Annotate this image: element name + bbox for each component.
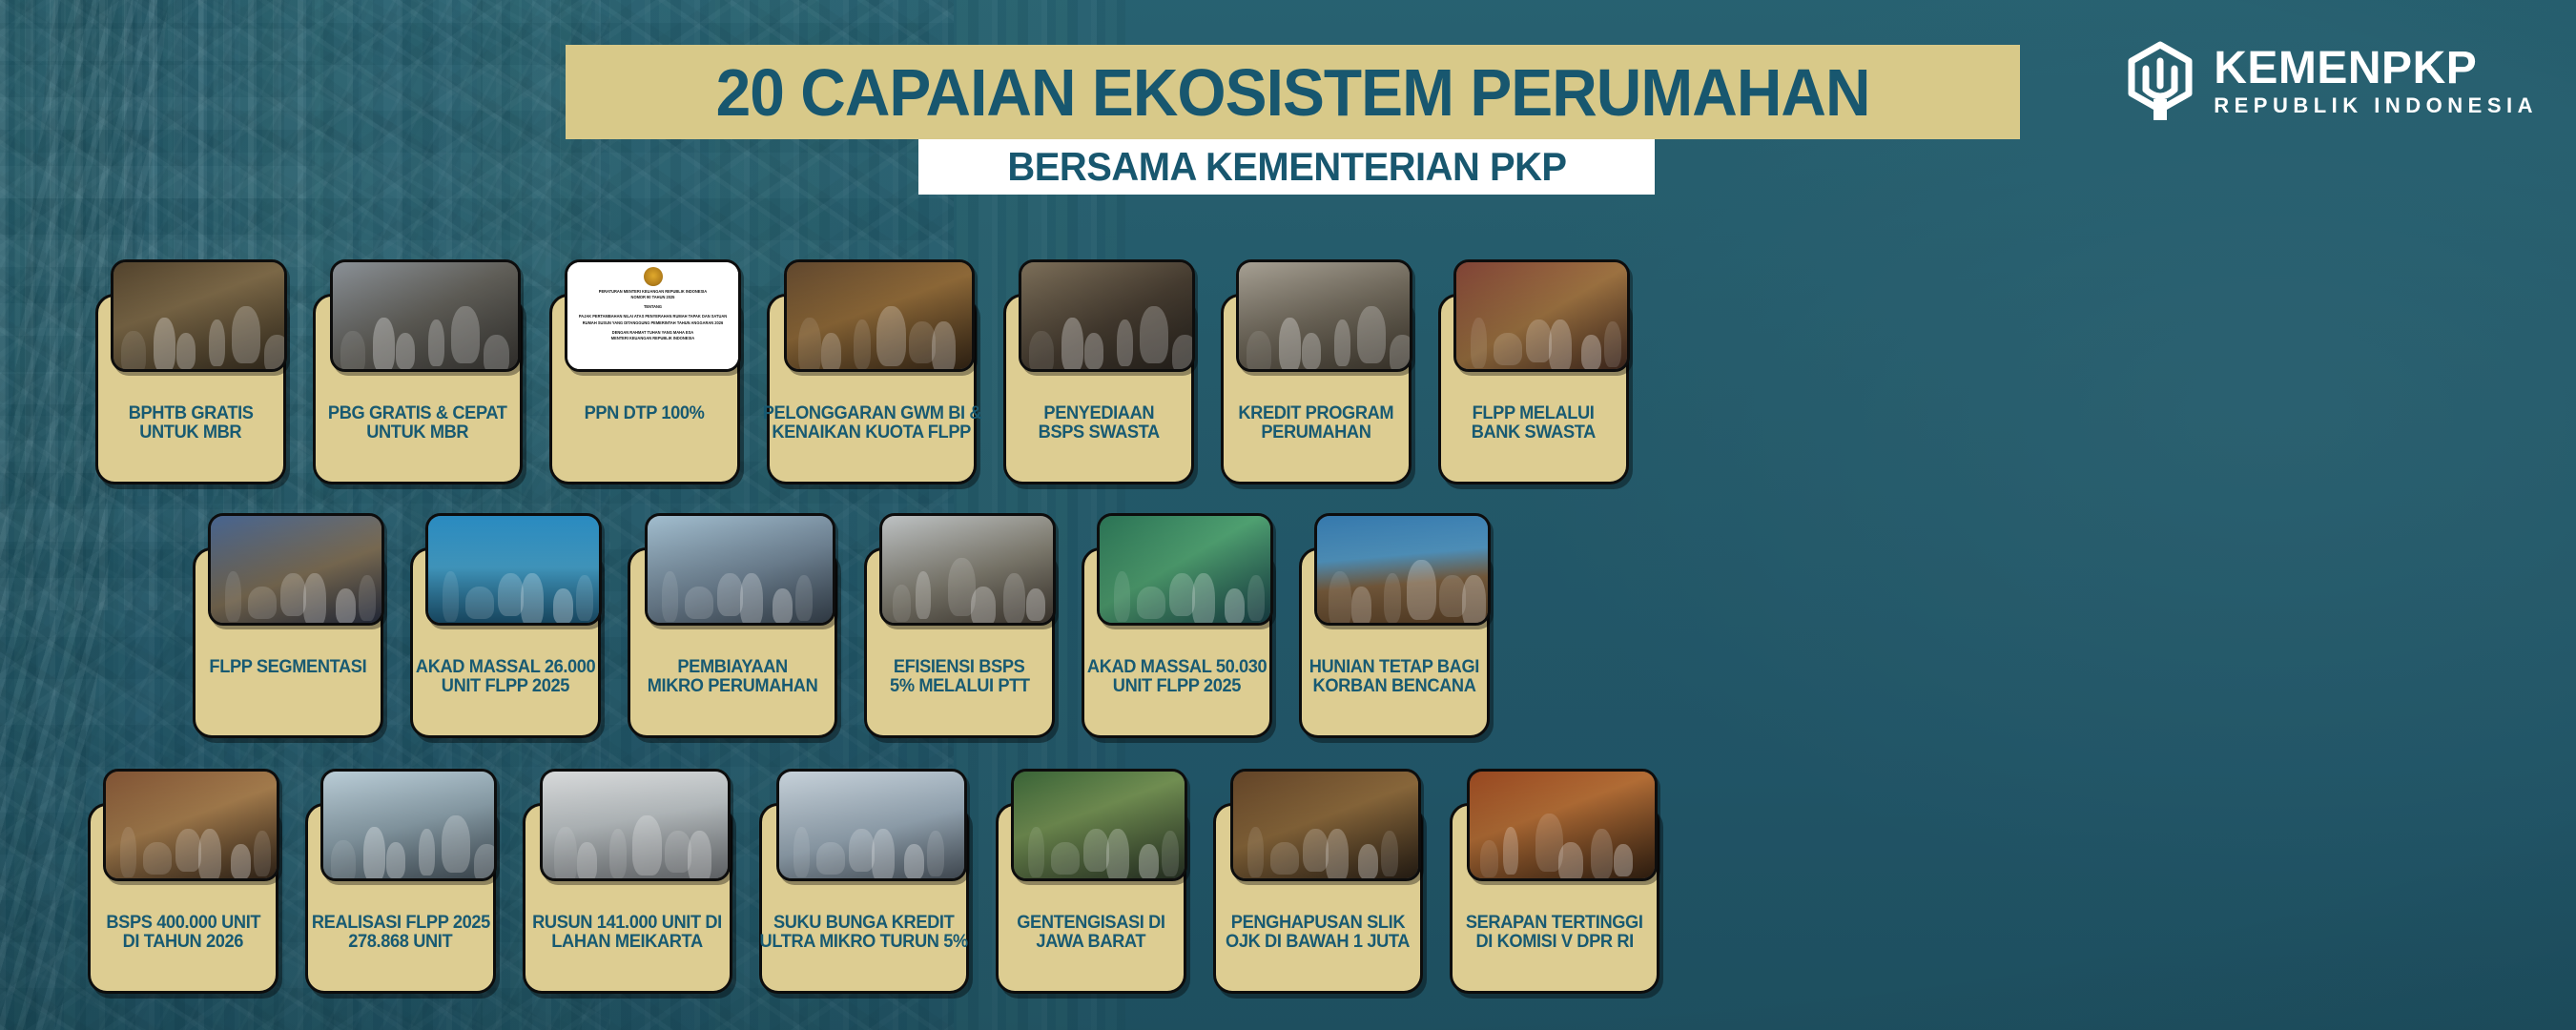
photo-figure [1357,306,1386,363]
card-caption-line: REALISASI FLPP 2025 [312,914,490,933]
card-caption-line: KREDIT PROGRAM [1239,404,1394,423]
photo-figure [396,333,415,369]
card-photo [784,259,975,372]
card-photo [645,513,835,626]
card-photo: PERATURAN MENTERI KEUANGAN REPUBLIK INDO… [565,259,741,372]
photo-figure [336,588,356,624]
doc-line-5: RUMAH SUSUN YANG DITANGGUNG PEMERINTAH T… [576,320,731,326]
card-photo [540,769,731,881]
card-photo-image [1470,772,1655,878]
photo-figure [854,319,871,369]
card-photo-image [323,772,494,878]
photo-figure [876,306,906,366]
card-caption-line: GENTENGISASI DI [1017,914,1164,933]
card-caption-line: HUNIAN TETAP BAGI [1309,658,1479,677]
photo-figure [904,844,924,879]
photo-figure [662,571,678,622]
photo-figure [1026,588,1045,621]
kemenpkp-logo: KEMENPKP REPUBLIK INDONESIA [2124,40,2538,122]
photo-figure [1247,827,1264,877]
card-caption-line: SUKU BUNGA KREDIT [773,914,954,933]
photo-figure [1106,829,1129,881]
photo-figure [554,827,577,881]
card-caption: BSPS 400.000 UNITDI TAHUN 2026 [92,912,275,988]
photo-figure [1051,842,1080,875]
photo-figure [373,318,395,372]
card-photo-image [333,262,518,369]
card-photo [208,513,384,626]
photo-figure [1503,827,1518,875]
photo-figure [254,831,271,876]
photo-figure [225,571,241,622]
photo-figure [1270,842,1299,875]
card-photo-image [779,772,964,878]
photo-figure [932,321,956,372]
card-photo-image [648,516,833,623]
card-caption-line: 278.868 UNIT [349,933,453,952]
photo-figure [143,842,172,875]
card-caption: AKAD MASSAL 50.030UNIT FLPP 2025 [1085,656,1268,732]
card-photo-image [211,516,381,623]
photo-figure [386,842,405,878]
card-caption: HUNIAN TETAP BAGIKORBAN BENCANA [1303,656,1486,732]
card-caption-line: RUSUN 141.000 UNIT DI [533,914,723,933]
photo-figure [1247,575,1265,621]
card-caption-line: FLPP SEGMENTASI [210,658,367,677]
photo-figure [359,575,376,621]
card-caption-line: PELONGGARAN GWM BI & [762,404,980,423]
photo-figure [340,331,365,372]
photo-figure [248,587,277,619]
photo-figure [1029,331,1054,372]
card-caption-line: JAWA BARAT [1037,933,1146,952]
card-caption-line: UNIT FLPP 2025 [442,677,569,696]
card-caption-line: MIKRO PERUMAHAN [648,677,818,696]
card-caption-line: AKAD MASSAL 26.000 [416,658,595,677]
photo-figure [1137,587,1165,619]
photo-figure [740,573,763,626]
card-caption-line: BSPS 400.000 UNIT [106,914,260,933]
card-photo [1236,259,1412,372]
photo-figure [1329,571,1351,626]
card-caption-line: ULTRA MIKRO TURUN 5% [760,933,968,952]
card-caption: PENYEDIAANBSPS SWASTA [1007,402,1190,479]
page-subtitle: BERSAMA KEMENTERIAN PKP [1007,147,1566,187]
photo-figure [1549,319,1572,372]
card-caption-line: FLPP MELALUI [1473,404,1595,423]
photo-figure [231,844,251,879]
photo-figure [363,827,385,881]
photo-figure [232,306,260,363]
photo-figure [1172,335,1195,372]
photo-figure [1247,331,1271,372]
card-photo [1230,769,1421,881]
permen-document: PERATURAN MENTERI KEUANGAN REPUBLIK INDO… [567,262,738,369]
card-photo [879,513,1056,626]
photo-figure [773,588,793,624]
card-caption-line: PERUMAHAN [1261,423,1370,443]
photo-figure [1302,333,1321,369]
kemenpkp-wordmark: KEMENPKP REPUBLIK INDONESIA [2214,46,2538,116]
card-caption-line: KENAIKAN KUOTA FLPP [773,423,972,443]
photo-figure [1480,840,1498,877]
card-caption: FLPP MELALUIBANK SWASTA [1442,402,1625,479]
photo-figure [795,575,813,621]
card-caption-line: OJK DI BAWAH 1 JUTA [1226,933,1410,952]
photo-figure [1028,827,1044,877]
card-photo-image [1100,516,1270,623]
photo-figure [893,585,911,622]
photo-figure [816,842,845,875]
photo-figure [280,573,306,616]
card-photo [330,259,521,372]
card-caption-line: PPN DTP 100% [585,404,705,423]
photo-figure [1462,575,1486,626]
photo-figure [443,571,459,622]
card-caption-line: PEMBIAYAAN [677,658,787,677]
photo-figure [609,829,627,878]
photo-figure [685,587,713,619]
photo-figure [1334,319,1350,366]
photo-figure [1526,319,1552,362]
photo-figure [465,587,494,619]
photo-figure [1471,318,1487,368]
photo-figure [1358,844,1378,879]
doc-line-3: TENTANG [576,304,731,310]
photo-figure [1303,829,1329,872]
card-caption-line: DI TAHUN 2026 [123,933,243,952]
doc-line-2: NOMOR 90 TAHUN 2025 [576,295,731,300]
card-caption-line: PBG GRATIS & CEPAT [328,404,507,423]
photo-figure [1581,335,1601,370]
photo-figure [442,815,470,873]
photo-figure [1140,306,1168,363]
card-photo-image [113,262,284,369]
photo-figure [1084,333,1103,369]
card-photo-image [1239,262,1410,369]
card-photo-image: PERATURAN MENTERI KEUANGAN REPUBLIK INDO… [567,262,738,369]
card-photo [320,769,497,881]
photo-figure [1061,318,1083,372]
card-photo [1011,769,1187,881]
card-caption: PEMBIAYAANMIKRO PERUMAHAN [631,656,834,732]
header: 20 CAPAIAN EKOSISTEM PERUMAHAN BERSAMA K… [0,0,2576,205]
photo-figure [971,587,996,626]
photo-figure [1326,829,1349,881]
photo-figure [331,840,356,881]
card-caption-line: UNTUK MBR [139,423,241,443]
card-caption-line: BSPS SWASTA [1038,423,1159,443]
card-photo [103,769,279,881]
card-photo [111,259,287,372]
photo-figure [1169,573,1195,616]
photo-figure [484,335,509,372]
card-photo [1097,513,1273,626]
photo-figure [577,842,597,881]
card-caption-line: 5% MELALUI PTT [890,677,1030,696]
card-caption: GENTENGISASI DIJAWA BARAT [999,912,1183,988]
logo-name: KEMENPKP [2214,46,2538,92]
photo-figure [1558,842,1583,881]
card-caption: FLPP SEGMENTASI [196,656,380,732]
card-photo-image [1021,262,1192,369]
photo-figure [793,827,810,877]
photo-figure [120,827,136,877]
photo-figure [1614,844,1633,876]
photo-figure [451,306,480,363]
photo-figure [1114,571,1130,622]
photo-figure [1083,829,1109,872]
card-caption-line: SERAPAN TERTINGGI [1466,914,1643,933]
photo-figure [1390,335,1412,372]
card-photo [1453,259,1630,372]
photo-figure [1384,573,1401,623]
card-caption-line: BPHTB GRATIS [129,404,254,423]
photo-figure [154,318,175,372]
photo-figure [498,573,524,616]
card-photo [776,769,967,881]
photo-figure [175,829,201,872]
photo-figure [849,829,875,872]
photo-figure [1381,831,1398,876]
photo-figure [419,829,435,875]
photo-figure [1494,333,1522,365]
card-photo [1314,513,1491,626]
photo-figure [576,575,593,621]
card-caption-line: BANK SWASTA [1472,423,1596,443]
card-caption: EFISIENSI BSPS5% MELALUI PTT [868,656,1051,732]
photo-figure [916,571,931,619]
photo-figure [474,844,497,881]
card-caption: RUSUN 141.000 UNIT DILAHAN MEIKARTA [526,912,729,988]
photo-figure [521,573,544,626]
photo-figure [1162,831,1179,876]
card-caption: SUKU BUNGA KREDITULTRA MIKRO TURUN 5% [763,912,965,988]
photo-figure [688,831,711,881]
photo-figure [1591,829,1613,879]
photo-figure [1407,560,1436,620]
card-caption: REALISASI FLPP 2025278.868 UNIT [309,912,492,988]
photo-figure [872,829,895,881]
photo-figure [198,829,221,881]
card-caption: PELONGGARAN GWM BI &KENAIKAN KUOTA FLPP [771,402,973,479]
card-caption-line: DI KOMISI V DPR RI [1475,933,1633,952]
card-photo-image [106,772,277,878]
card-caption: KREDIT PROGRAMPERUMAHAN [1225,402,1408,479]
photo-figure [303,573,326,626]
photo-figure [1117,319,1133,366]
card-photo-image [1233,772,1418,878]
photo-figure [1192,573,1215,626]
card-caption-line: UNTUK MBR [366,423,468,443]
photo-figure [1604,321,1621,367]
card-caption: PENGHAPUSAN SLIKOJK DI BAWAH 1 JUTA [1217,912,1419,988]
photo-figure [632,815,662,875]
photo-figure [717,573,743,616]
kemenpkp-emblem-icon [2124,40,2196,122]
photo-figure [1351,587,1371,626]
card-caption: AKAD MASSAL 26.000UNIT FLPP 2025 [414,656,597,732]
card-photo-image [882,516,1053,623]
photo-figure [821,333,841,372]
card-caption: BPHTB GRATISUNTUK MBR [99,402,282,479]
card-caption-line: PENYEDIAAN [1043,404,1154,423]
card-caption-line: KORBAN BENCANA [1313,677,1476,696]
card-photo [425,513,602,626]
photo-figure [927,831,944,876]
photo-figure [121,331,146,372]
subtitle-banner: BERSAMA KEMENTERIAN PKP [918,139,1655,195]
photo-figure [1003,573,1025,624]
doc-line-7: MENTERI KEUANGAN REPUBLIK INDONESIA [576,336,731,341]
card-caption-line: LAHAN MEIKARTA [552,933,703,952]
card-photo-image [428,516,599,623]
photo-figure [1225,588,1245,624]
card-photo-image [787,262,972,369]
card-caption-line: PENGHAPUSAN SLIK [1231,914,1405,933]
photo-figure [176,333,196,369]
card-caption-line: UNIT FLPP 2025 [1113,677,1241,696]
card-caption: SERAPAN TERTINGGIDI KOMISI V DPR RI [1453,912,1656,988]
photo-figure [553,588,573,624]
photo-figure [1139,844,1159,879]
photo-figure [209,319,225,366]
card-caption-line: AKAD MASSAL 50.030 [1087,658,1267,677]
card-photo [1019,259,1195,372]
photo-figure [264,335,287,372]
card-caption-line: EFISIENSI BSPS [894,658,1025,677]
card-photo-image [543,772,728,878]
page-title: 20 CAPAIAN EKOSISTEM PERUMAHAN [716,59,1870,126]
photo-figure [428,319,444,366]
card-photo-image [1317,516,1488,623]
card-caption: PPN DTP 100% [553,402,736,479]
logo-subname: REPUBLIK INDONESIA [2214,95,2538,116]
card-photo [1467,769,1658,881]
card-photo-image [1456,262,1627,369]
photo-figure [1279,318,1301,372]
title-banner: 20 CAPAIAN EKOSISTEM PERUMAHAN [566,45,2020,139]
card-caption: PBG GRATIS & CEPATUNTUK MBR [317,402,519,479]
card-photo-image [1014,772,1185,878]
photo-figure [798,318,821,372]
garuda-crest-icon [644,267,663,286]
